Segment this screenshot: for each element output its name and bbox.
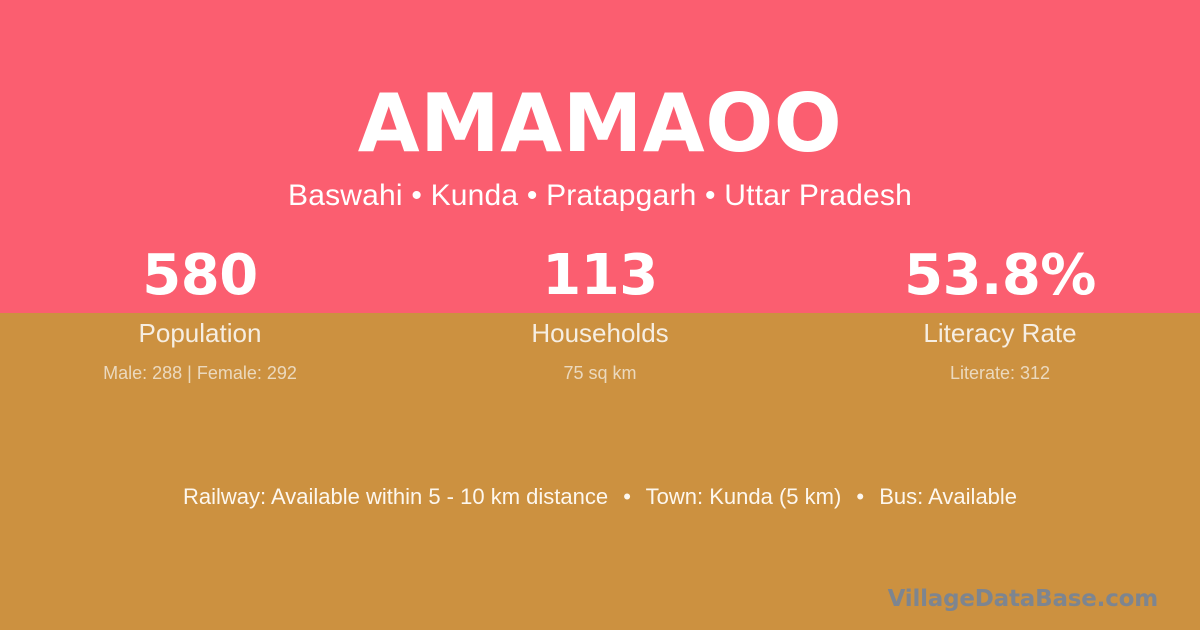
amenity-railway: Railway: Available within 5 - 10 km dist… — [183, 484, 608, 509]
amenity-separator-2: • — [847, 486, 873, 508]
stat-label-households: Households — [400, 320, 800, 346]
stat-label-literacy-rate: Literacy Rate — [800, 320, 1200, 346]
card-header: AMAMAOO Baswahi • Kunda • Pratapgarh • U… — [0, 0, 1200, 211]
site-brand: VillageDataBase.com — [888, 588, 1158, 611]
breadcrumb: Baswahi • Kunda • Pratapgarh • Uttar Pra… — [0, 164, 1200, 211]
amenities-line: Railway: Available within 5 - 10 km dist… — [0, 486, 1200, 508]
amenity-separator-1: • — [614, 486, 640, 508]
stats-row: 580 Population Male: 288 | Female: 292 1… — [0, 248, 1200, 382]
amenity-bus: Bus: Available — [879, 484, 1017, 509]
stat-label-population: Population — [0, 320, 400, 346]
stat-sub-literacy-rate: Literate: 312 — [800, 364, 1200, 382]
stat-value-population: 580 — [0, 248, 400, 304]
stat-sub-households: 75 sq km — [400, 364, 800, 382]
amenity-town: Town: Kunda (5 km) — [646, 484, 842, 509]
page-title: AMAMAOO — [0, 0, 1200, 164]
stat-sub-population: Male: 288 | Female: 292 — [0, 364, 400, 382]
stat-literacy-rate: 53.8% Literacy Rate Literate: 312 — [800, 248, 1200, 382]
stat-value-households: 113 — [400, 248, 800, 304]
village-info-card: AMAMAOO Baswahi • Kunda • Pratapgarh • U… — [0, 0, 1200, 630]
stat-value-literacy-rate: 53.8% — [800, 248, 1200, 304]
stat-households: 113 Households 75 sq km — [400, 248, 800, 382]
stat-population: 580 Population Male: 288 | Female: 292 — [0, 248, 400, 382]
